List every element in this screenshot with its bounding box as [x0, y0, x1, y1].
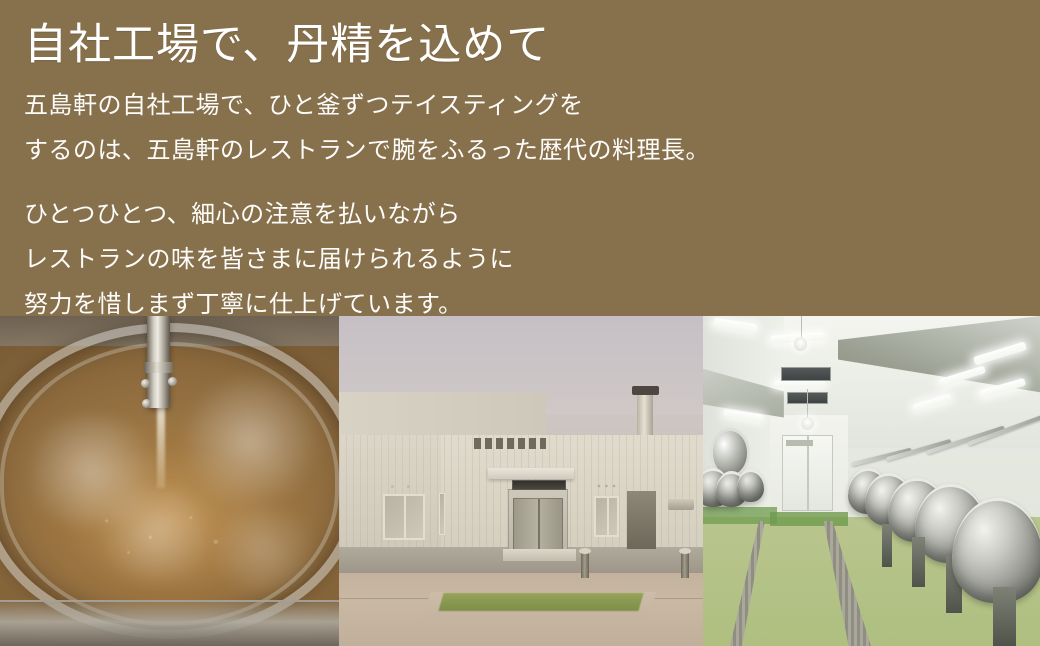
paragraph-1-line-1: 五島軒の自社工場で、ひと釜ずつテイスティングを — [24, 84, 1040, 129]
wall-vent — [668, 499, 693, 510]
window — [439, 493, 445, 536]
body-copy: 五島軒の自社工場で、ひと釜ずつテイスティングを するのは、五島軒のレストランで腕… — [24, 84, 1040, 328]
rear-double-door — [782, 435, 833, 511]
steam-cloud — [176, 375, 325, 507]
stirrer-bolt — [141, 379, 150, 388]
kettle-stand — [912, 537, 925, 587]
floor-kick-wall — [770, 512, 848, 525]
bollard-light — [581, 552, 589, 578]
stirrer-collar — [144, 362, 172, 373]
paragraph-1: 五島軒の自社工場で、ひと釜ずつテイスティングを するのは、五島軒のレストランで腕… — [24, 84, 1040, 174]
pendant-lamp — [794, 337, 807, 350]
kettle-stand — [993, 587, 1017, 646]
bollard-light — [681, 552, 689, 578]
paragraph-2-line-1: ひとつひとつ、細心の注意を払いながら — [24, 193, 1040, 238]
paragraph-1-line-2: するのは、五島軒のレストランで腕をふるった歴代の料理長。 — [24, 129, 1040, 174]
pouring-stream — [157, 402, 165, 488]
window — [594, 496, 619, 537]
promotional-panel: 自社工場で、丹精を込めて 五島軒の自社工場で、ひと釜ずつテイスティングを するの… — [0, 0, 1040, 646]
wall-fixtures — [388, 483, 417, 490]
text-band: 自社工場で、丹精を込めて 五島軒の自社工場で、ひと釜ずつテイスティングを するの… — [0, 0, 1040, 316]
page-title: 自社工場で、丹精を込めて — [24, 20, 1040, 72]
stirrer-bolt — [142, 399, 151, 408]
simmering-bubbles — [88, 501, 244, 567]
paragraph-2: ひとつひとつ、細心の注意を払いながら レストランの味を皆さまに届けられるように … — [24, 193, 1040, 328]
pendant-lamp — [801, 417, 814, 430]
paragraph-2-line-2: レストランの味を皆さまに届けられるように — [24, 238, 1040, 283]
chimney-cap — [632, 386, 658, 395]
clerestory-windows — [474, 438, 547, 449]
entrance-canopy — [488, 468, 574, 479]
kettle-front-rim — [0, 600, 339, 646]
window — [383, 494, 425, 540]
wall-fixtures — [596, 483, 618, 490]
steam-kettle — [737, 469, 764, 502]
photo-factory-exterior — [339, 316, 703, 646]
stirrer-bolt — [168, 377, 177, 386]
photo-simmering-curry-kettle — [0, 316, 339, 646]
garage-opening — [627, 491, 656, 549]
entrance-door — [513, 498, 563, 551]
building-nameplate-sign — [512, 480, 567, 490]
entrance-steps — [503, 549, 576, 561]
pendant-rod — [801, 316, 802, 339]
rear-door-sign — [786, 440, 813, 446]
photo-strip — [0, 316, 1040, 646]
photo-kettle-hall-interior — [703, 316, 1040, 646]
grass-strip — [438, 593, 643, 611]
kettle-stand — [882, 524, 892, 567]
floor-kick-wall — [703, 507, 777, 524]
pendant-rod — [807, 389, 808, 419]
ceiling-equipment-panel — [781, 367, 832, 381]
